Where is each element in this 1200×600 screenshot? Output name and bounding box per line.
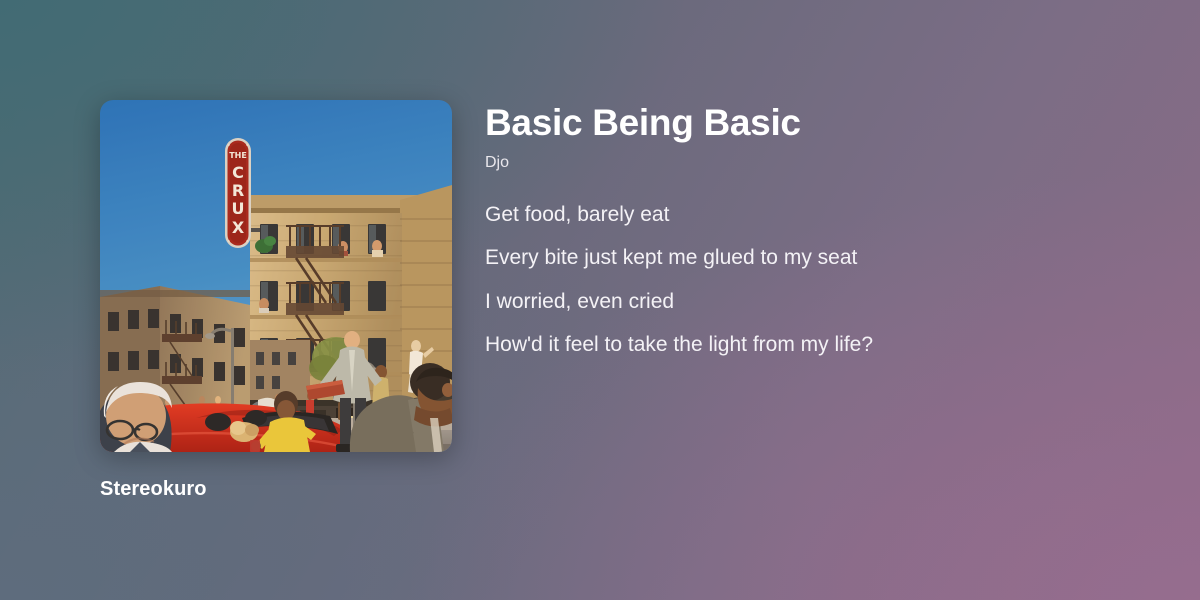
album-cover-art[interactable]: THE C R U X bbox=[100, 100, 452, 452]
album-caption: Stereokuro bbox=[100, 478, 207, 501]
lyric-line: I worried, even cried bbox=[485, 291, 1145, 312]
track-title: Basic Being Basic bbox=[485, 102, 1145, 143]
artist-name: Djo bbox=[485, 153, 1145, 172]
lyric-line: How'd it feel to take the light from my … bbox=[485, 334, 1145, 355]
lyric-line: Every bite just kept me glued to my seat bbox=[485, 247, 1145, 268]
track-info-panel: Basic Being Basic Djo Get food, barely e… bbox=[485, 102, 1145, 355]
lyric-line: Get food, barely eat bbox=[485, 204, 1145, 225]
album-cover-illustration: THE C R U X bbox=[100, 100, 452, 452]
lyric-card-background: THE C R U X bbox=[0, 0, 1200, 600]
lyrics-list: Get food, barely eat Every bite just kep… bbox=[485, 204, 1145, 356]
